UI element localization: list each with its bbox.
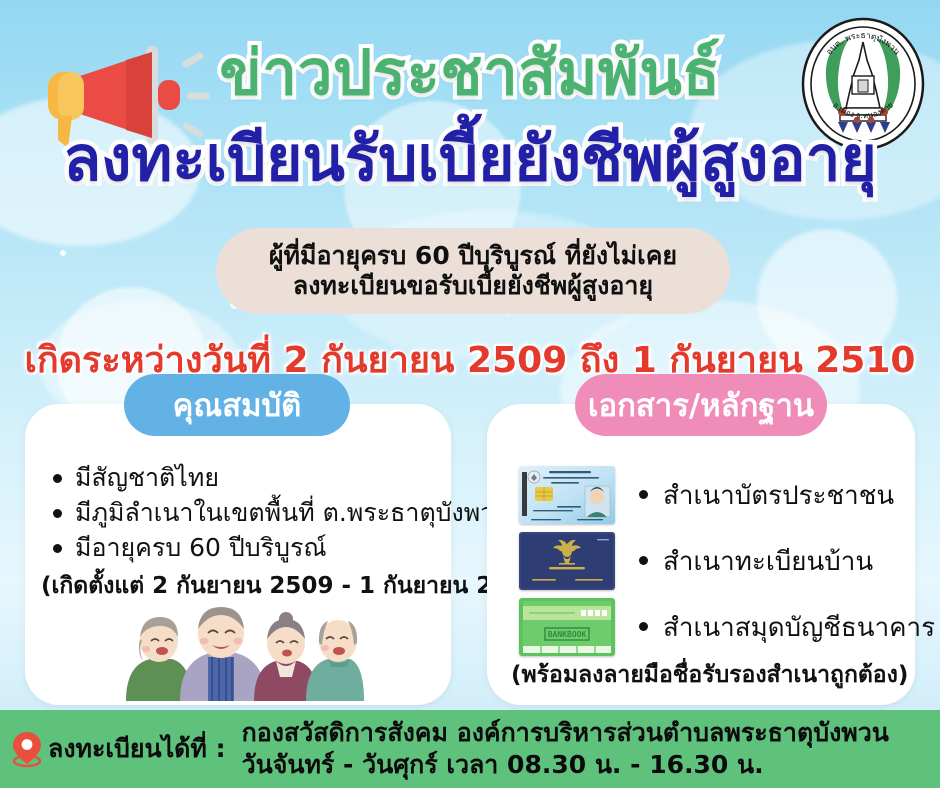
list-item: มีสัญชาติไทย xyxy=(45,460,511,495)
footer-address: กองสวัสดิการสังคม องค์การบริหารส่วนตำบลพ… xyxy=(242,717,889,782)
thai-id-card-thumbnail xyxy=(519,466,615,524)
page-title-green: ข่าวประชาสัมพันธ์ xyxy=(0,40,940,105)
bankbook-thumbnail: BANKBOOK xyxy=(519,598,615,656)
qualification-list: มีสัญชาติไทย มีภูมิลำเนาในเขตพื้นที่ ต.พ… xyxy=(45,460,511,565)
location-pin-icon xyxy=(10,730,44,768)
sparkle-dot-decoration xyxy=(60,250,66,256)
qualification-card-header: คุณสมบัติ xyxy=(124,374,350,436)
house-registration-thumbnail xyxy=(519,532,615,590)
documents-card-header: เอกสาร/หลักฐาน xyxy=(575,374,827,436)
document-label: สำเนาทะเบียนบ้าน xyxy=(637,541,873,582)
qualification-note: (เกิดตั้งแต่ 2 กันยายน 2509 - 1 กันยายน … xyxy=(41,568,551,604)
document-row: BANKBOOK สำเนาสมุดบัญชีธนาคาร xyxy=(519,598,935,656)
eligibility-banner-line1: ผู้ที่มีอายุครบ 60 ปีบุริบูรณ์ ที่ยังไม่… xyxy=(269,241,677,272)
footer-hours-line: วันจันทร์ - วันศุกร์ เวลา 08.30 น. - 16.… xyxy=(242,749,889,782)
footer-address-line1: กองสวัสดิการสังคม องค์การบริหารส่วนตำบลพ… xyxy=(242,717,889,750)
eligibility-banner-line2: ลงทะเบียนขอรับเบี้ยยังชีพผู้สูงอายุ xyxy=(293,271,653,302)
document-label: สำเนาบัตรประชาชน xyxy=(637,475,894,516)
qualification-card: คุณสมบัติ มีสัญชาติไทย มีภูมิลำเนาในเขตพ… xyxy=(25,404,451,705)
documents-note: (พร้อมลงลายมือชื่อรับรองสำเนาถูกต้อง) xyxy=(511,657,908,693)
document-row: สำเนาบัตรประชาชน xyxy=(519,466,894,524)
page-title-blue: ลงทะเบียนรับเบี้ยยังชีพผู้สูงอายุ xyxy=(0,126,940,191)
list-item: มีภูมิลำเนาในเขตพื้นที่ ต.พระธาตุบังพวน xyxy=(45,495,511,530)
footer-label: ลงทะเบียนได้ที่ : xyxy=(48,729,226,769)
elderly-people-illustration xyxy=(120,601,364,701)
document-row: สำเนาทะเบียนบ้าน xyxy=(519,532,873,590)
documents-card: เอกสาร/หลักฐาน xyxy=(487,404,915,705)
list-item: มีอายุครบ 60 ปีบริบูรณ์ xyxy=(45,530,511,565)
eligibility-banner: ผู้ที่มีอายุครบ 60 ปีบุริบูรณ์ ที่ยังไม่… xyxy=(216,228,730,314)
bankbook-label: BANKBOOK xyxy=(548,630,587,639)
footer-contact-bar: ลงทะเบียนได้ที่ : กองสวัสดิการสังคม องค์… xyxy=(0,710,940,788)
document-label: สำเนาสมุดบัญชีธนาคาร xyxy=(637,607,935,648)
announcement-poster: อบต. พระธาตุบังพวน อ.เมือง จ.หนองคาย ข่า… xyxy=(0,0,940,788)
